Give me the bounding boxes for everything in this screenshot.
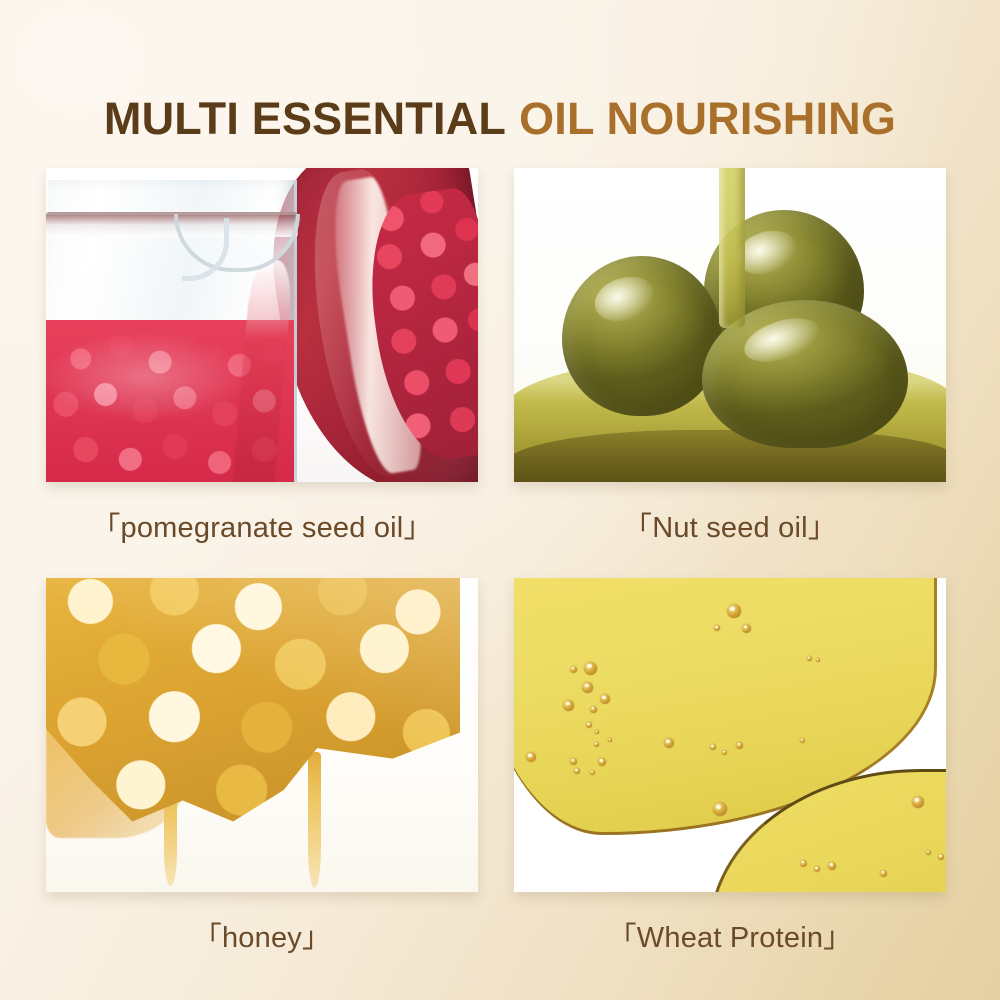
- pomegranate-scene: [46, 168, 478, 482]
- bubble: [600, 694, 610, 704]
- bubble: [714, 625, 720, 631]
- bubble: [582, 682, 593, 693]
- bubble: [710, 744, 716, 750]
- honey-drip-right: [308, 752, 321, 888]
- bubble: [800, 860, 807, 867]
- bubble: [713, 802, 727, 816]
- ingredient-card-pomegranate-seed-oil: 「pomegranate seed oil」: [46, 168, 478, 546]
- ingredient-photo-pomegranate-seed-oil: [46, 168, 478, 482]
- bubble: [590, 770, 595, 775]
- bubble: [816, 658, 820, 662]
- oil-pool-shadow: [514, 430, 946, 482]
- ingredient-caption-nut-seed-oil: 「Nut seed oil」: [514, 504, 946, 546]
- bubble: [722, 750, 727, 755]
- bubble: [727, 604, 741, 618]
- ingredient-caption-pomegranate-seed-oil: 「pomegranate seed oil」: [46, 504, 478, 546]
- ingredient-benefits-page: MULTI ESSENTIALOIL NOURISHING 「pomegrana…: [0, 0, 1000, 1000]
- bubble: [586, 722, 592, 728]
- olive-left: [562, 256, 722, 416]
- ingredient-photo-nut-seed-oil: [514, 168, 946, 482]
- bubble: [570, 666, 577, 673]
- bubble: [880, 870, 887, 877]
- bubble: [912, 796, 924, 808]
- bubble: [598, 758, 606, 766]
- bubble: [563, 700, 574, 711]
- bubble: [814, 866, 820, 872]
- bubble: [526, 752, 536, 762]
- bubble: [570, 758, 577, 765]
- bubble: [807, 656, 812, 661]
- ingredient-photo-wheat-protein: [514, 578, 946, 892]
- bubble: [574, 768, 580, 774]
- oil-drizzle-stream: [719, 168, 745, 328]
- bubble: [664, 738, 674, 748]
- ingredient-photo-honey: [46, 578, 478, 892]
- ingredient-caption-honey: 「honey」: [46, 914, 478, 956]
- page-title: MULTI ESSENTIALOIL NOURISHING: [0, 96, 1000, 141]
- bubble: [608, 738, 612, 742]
- bubble: [938, 854, 944, 860]
- bubble: [828, 862, 836, 870]
- ingredient-card-honey: 「honey」: [46, 578, 478, 956]
- ingredient-card-nut-seed-oil: 「Nut seed oil」: [514, 168, 946, 546]
- bubble: [926, 850, 931, 855]
- ingredient-caption-wheat-protein: 「Wheat Protein」: [514, 914, 946, 956]
- bubble: [594, 742, 599, 747]
- bubble: [590, 706, 597, 713]
- bubble: [742, 624, 751, 633]
- olive-scene: [514, 168, 946, 482]
- wheat-protein-scene: [514, 578, 946, 892]
- bubble: [595, 730, 599, 734]
- bubble: [736, 742, 743, 749]
- bubble: [800, 738, 805, 743]
- bubble: [584, 662, 597, 675]
- honey-scene: [46, 578, 478, 892]
- ingredient-card-wheat-protein: 「Wheat Protein」: [514, 578, 946, 956]
- page-title-accent: OIL NOURISHING: [519, 93, 896, 144]
- page-title-primary: MULTI ESSENTIAL: [104, 93, 506, 144]
